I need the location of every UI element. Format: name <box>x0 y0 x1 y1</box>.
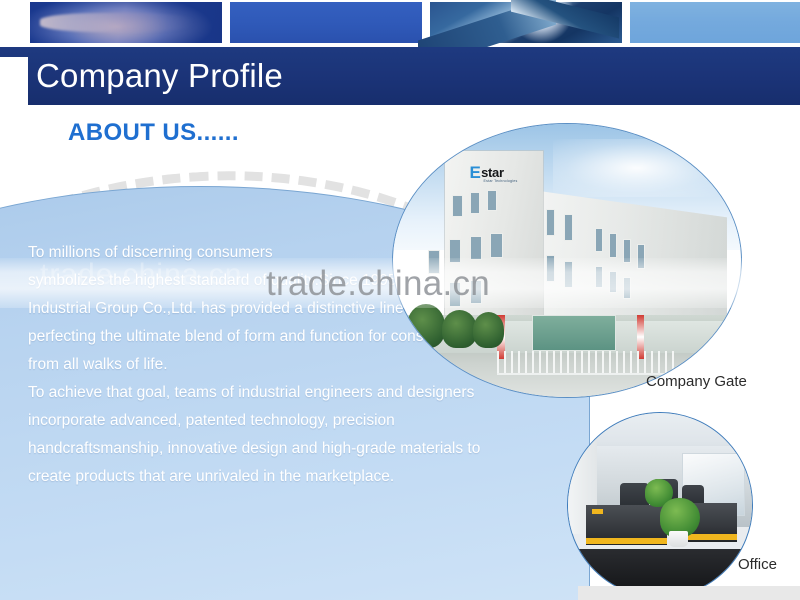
skyscraper-photo <box>428 0 624 45</box>
window <box>449 282 461 307</box>
caption-company-gate: Company Gate <box>646 373 747 390</box>
keyboard-hands-photo <box>28 0 224 45</box>
tree <box>473 312 504 347</box>
estar-logo-subtitle: Estar Technologies <box>484 179 518 183</box>
footer-strip <box>578 586 800 600</box>
window <box>470 280 482 305</box>
slide-canvas: Company Profile ABOUT US...... To millio… <box>0 0 800 600</box>
caption-office: Office <box>738 556 777 573</box>
desk-accent-stripe <box>586 538 667 544</box>
desk-label-tag <box>592 509 603 515</box>
tree <box>407 304 445 348</box>
window <box>452 195 462 217</box>
header-banner <box>0 0 800 48</box>
solid-blue-block <box>228 0 424 45</box>
window <box>595 228 603 253</box>
window <box>470 192 480 214</box>
window <box>546 255 555 282</box>
light-blue-block <box>628 0 800 45</box>
estar-logo-mark: E <box>470 166 481 179</box>
window <box>546 209 555 236</box>
fence <box>497 351 678 375</box>
window <box>609 271 617 293</box>
office-photo <box>567 412 753 598</box>
window <box>564 261 573 288</box>
window <box>623 277 631 299</box>
window <box>428 250 440 275</box>
window <box>609 233 617 258</box>
entrance-door <box>532 315 616 350</box>
window <box>623 239 631 264</box>
estar-logo-word: star <box>481 165 504 180</box>
estar-logo: Estar <box>470 165 504 180</box>
window <box>564 214 573 241</box>
tree <box>442 310 477 348</box>
window <box>487 190 497 212</box>
company-gate-photo: Estar Estar Technologies <box>392 123 742 398</box>
window <box>595 266 603 288</box>
section-heading-about-us: ABOUT US...... <box>68 119 239 147</box>
window <box>490 233 502 258</box>
page-title: Company Profile <box>36 50 283 102</box>
window <box>449 239 461 264</box>
window <box>470 236 482 261</box>
title-bar-notch <box>0 57 28 105</box>
window <box>637 244 645 269</box>
plant-pot <box>669 531 687 548</box>
